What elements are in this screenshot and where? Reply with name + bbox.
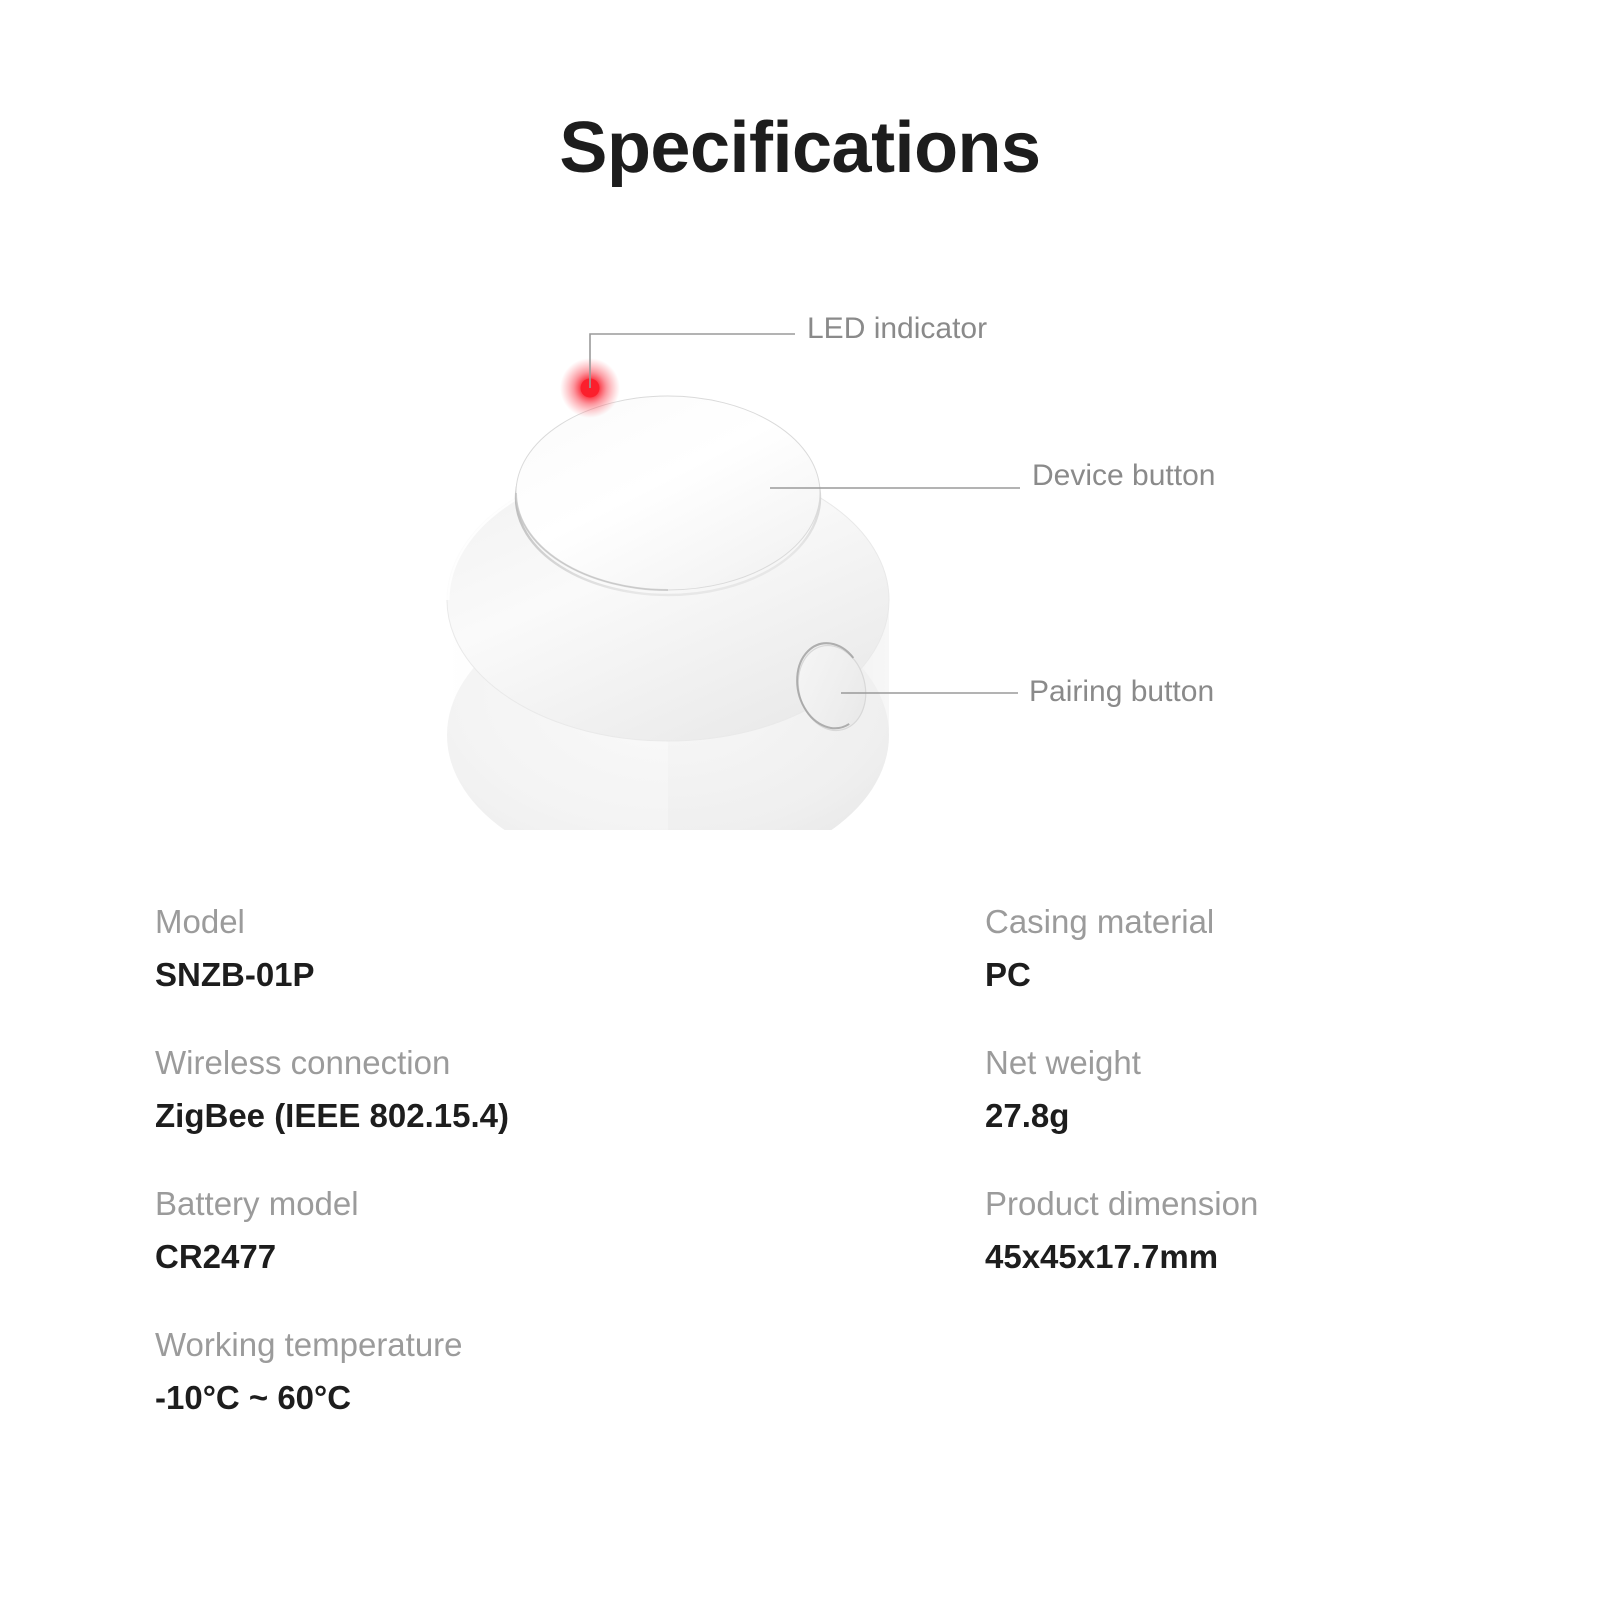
callout-label-led-indicator: LED indicator [807, 314, 987, 344]
product-illustration [400, 290, 1300, 830]
callout-label-pairing-button: Pairing button [1029, 677, 1214, 707]
page-title: Specifications [0, 112, 1600, 184]
spec-value: 27.8g [985, 1099, 1485, 1132]
spec-label: Battery model [155, 1187, 985, 1220]
spec-item-net-weight: Net weight 27.8g [985, 1046, 1485, 1187]
spec-label: Net weight [985, 1046, 1485, 1079]
spec-label: Working temperature [155, 1328, 985, 1361]
spec-label: Model [155, 905, 985, 938]
spec-item-casing-material: Casing material PC [985, 905, 1485, 1046]
spec-value: -10°C ~ 60°C [155, 1381, 985, 1414]
spec-value: 45x45x17.7mm [985, 1240, 1485, 1273]
spec-label: Wireless connection [155, 1046, 985, 1079]
spec-item-product-dimension: Product dimension 45x45x17.7mm [985, 1187, 1485, 1328]
spec-value: CR2477 [155, 1240, 985, 1273]
spec-value: SNZB-01P [155, 958, 985, 991]
specifications-page: Specifications [0, 0, 1600, 1600]
device-graphic [400, 290, 1300, 830]
spec-label: Product dimension [985, 1187, 1485, 1220]
spec-label: Casing material [985, 905, 1485, 938]
spec-item-battery-model: Battery model CR2477 [155, 1187, 985, 1328]
spec-item-wireless-connection: Wireless connection ZigBee (IEEE 802.15.… [155, 1046, 985, 1187]
spec-item-working-temperature: Working temperature -10°C ~ 60°C [155, 1328, 985, 1469]
spec-value: ZigBee (IEEE 802.15.4) [155, 1099, 985, 1132]
leader-line-led [590, 334, 795, 388]
callout-label-device-button: Device button [1032, 461, 1215, 491]
spec-value: PC [985, 958, 1485, 991]
spec-item-model: Model SNZB-01P [155, 905, 985, 1046]
specifications-grid: Model SNZB-01P Casing material PC Wirele… [155, 905, 1485, 1469]
